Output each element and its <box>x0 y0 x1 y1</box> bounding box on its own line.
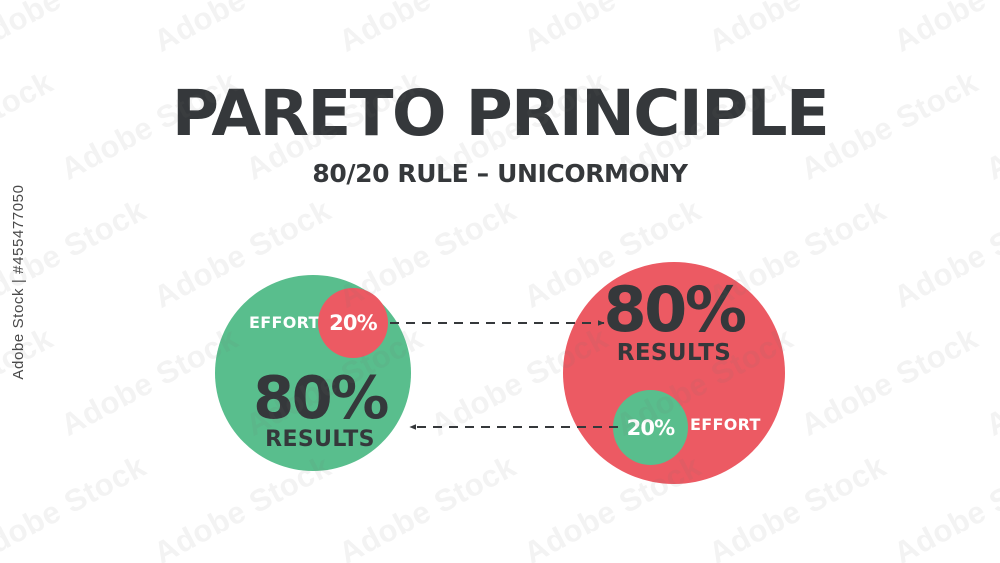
red-circle-main-percent: 80% <box>583 281 765 338</box>
green-circle-inner-20-percent-bubble: 20% <box>318 288 388 358</box>
green-circle-main-percent: 80% <box>236 371 404 425</box>
infographic-canvas: Adobe StockAdobe StockAdobe StockAdobe S… <box>0 0 1000 563</box>
green-circle-results-block: 80% RESULTS <box>236 371 404 452</box>
red-circle-results-block: 80% RESULTS <box>583 281 765 366</box>
red-circle-inner-percent: 20% <box>627 416 675 440</box>
red-circle-effort-label: EFFORT <box>690 415 761 434</box>
stock-id-watermark: Adobe Stock | #455477050 <box>10 184 27 379</box>
green-circle-effort-label: EFFORT <box>249 313 320 332</box>
green-circle-inner-percent: 20% <box>329 311 377 335</box>
red-circle-inner-20-percent-bubble: 20% <box>613 390 688 465</box>
pareto-diagram: EFFORT 20% 80% RESULTS 80% RESULTS 20% E… <box>0 0 1000 563</box>
